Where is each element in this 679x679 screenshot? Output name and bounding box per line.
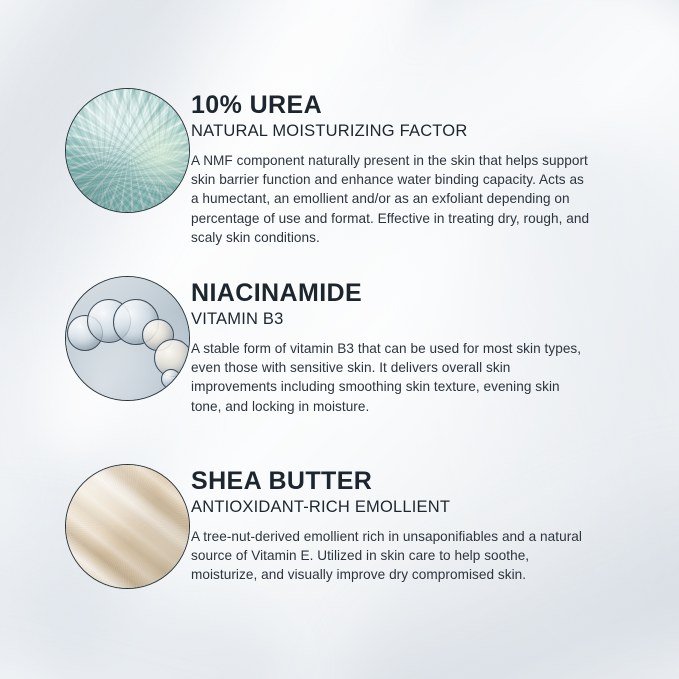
shea-shading-layer [66, 465, 189, 588]
text-cell-urea: 10% UREA NATURAL MOISTURIZING FACTOR A N… [191, 88, 679, 247]
text-cell-shea-butter: SHEA BUTTER ANTIOXIDANT-RICH EMOLLIENT A… [191, 464, 679, 585]
ingredient-heading: 10% UREA [191, 91, 679, 120]
ingredient-heading: SHEA BUTTER [191, 467, 679, 496]
ingredient-row-shea-butter: SHEA BUTTER ANTIOXIDANT-RICH EMOLLIENT A… [0, 464, 679, 589]
urea-highlight-glow [66, 89, 189, 212]
urea-crystal-swatch [65, 88, 190, 213]
ingredient-row-urea: 10% UREA NATURAL MOISTURIZING FACTOR A N… [0, 88, 679, 247]
swatch-cell-niacinamide [0, 276, 191, 401]
ingredient-heading: NIACINAMIDE [191, 279, 679, 308]
swatch-cell-urea [0, 88, 191, 213]
ingredient-row-niacinamide: NIACINAMIDE VITAMIN B3 A stable form of … [0, 276, 679, 416]
swatch-cell-shea-butter [0, 464, 191, 589]
text-cell-niacinamide: NIACINAMIDE VITAMIN B3 A stable form of … [191, 276, 679, 416]
ingredient-description: A tree-nut-derived emollient rich in uns… [191, 527, 591, 585]
ingredient-subheading: ANTIOXIDANT-RICH EMOLLIENT [191, 497, 679, 518]
ingredient-description: A NMF component naturally present in the… [191, 151, 591, 247]
niacinamide-bubble-swatch [65, 276, 190, 401]
ingredient-infographic: 10% UREA NATURAL MOISTURIZING FACTOR A N… [0, 0, 679, 679]
shea-butter-swatch [65, 464, 190, 589]
ingredient-subheading: VITAMIN B3 [191, 309, 679, 330]
ingredient-subheading: NATURAL MOISTURIZING FACTOR [191, 121, 679, 142]
ingredient-description: A stable form of vitamin B3 that can be … [191, 339, 591, 416]
bubble-shape [161, 369, 181, 389]
